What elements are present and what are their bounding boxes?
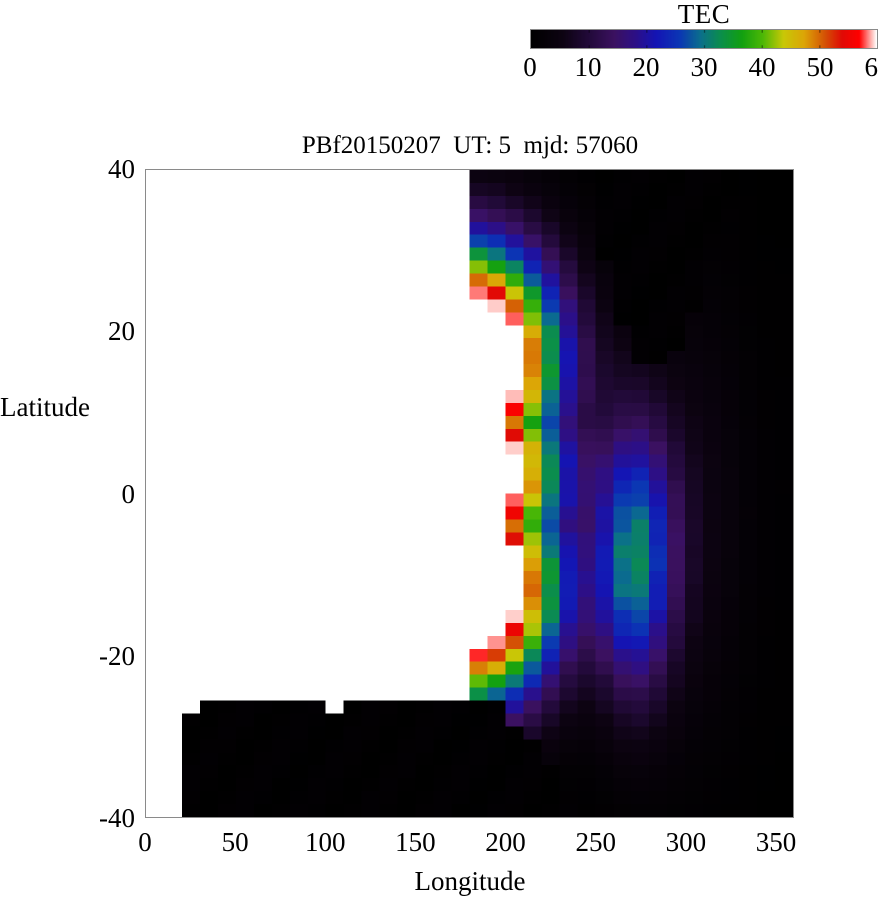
x-tick-300: 300 <box>646 826 726 858</box>
x-tick-100: 100 <box>285 826 365 858</box>
colorbar-tick-40: 40 <box>736 52 788 82</box>
y-axis-tick-labels: 40200-20-40 <box>15 0 135 900</box>
y-tick--20: -20 <box>15 642 135 670</box>
x-tick-0: 0 <box>105 826 185 858</box>
y-tick-20: 20 <box>15 317 135 345</box>
colorbar-title: TEC <box>530 0 878 28</box>
x-tick-200: 200 <box>466 826 546 858</box>
heatmap-canvas <box>146 170 793 817</box>
x-tick-150: 150 <box>375 826 455 858</box>
colorbar-tick-0: 0 <box>504 52 556 82</box>
colorbar-tick-50: 50 <box>794 52 846 82</box>
y-tick-0: 0 <box>15 480 135 508</box>
figure-root: TEC 0102030405060 PBf20150207 UT: 5 mjd:… <box>0 0 878 900</box>
colorbar-gradient <box>531 30 877 48</box>
plot-title: PBf20150207 UT: 5 mjd: 57060 <box>145 132 795 160</box>
x-axis-label: Longitude <box>145 866 795 896</box>
colorbar-tick-30: 30 <box>678 52 730 82</box>
colorbar-tick-60: 60 <box>852 52 878 82</box>
x-tick-350: 350 <box>736 826 816 858</box>
x-tick-50: 50 <box>195 826 275 858</box>
colorbar-tick-labels: 0102030405060 <box>518 52 878 84</box>
x-axis-tick-labels: 050100150200250300350 <box>0 826 878 860</box>
colorbar <box>530 29 878 49</box>
x-tick-250: 250 <box>556 826 636 858</box>
colorbar-tick-10: 10 <box>562 52 614 82</box>
y-axis-label: Latitude <box>0 392 128 422</box>
y-tick-40: 40 <box>15 155 135 183</box>
heatmap-plot-area <box>145 169 794 818</box>
colorbar-tick-20: 20 <box>620 52 672 82</box>
